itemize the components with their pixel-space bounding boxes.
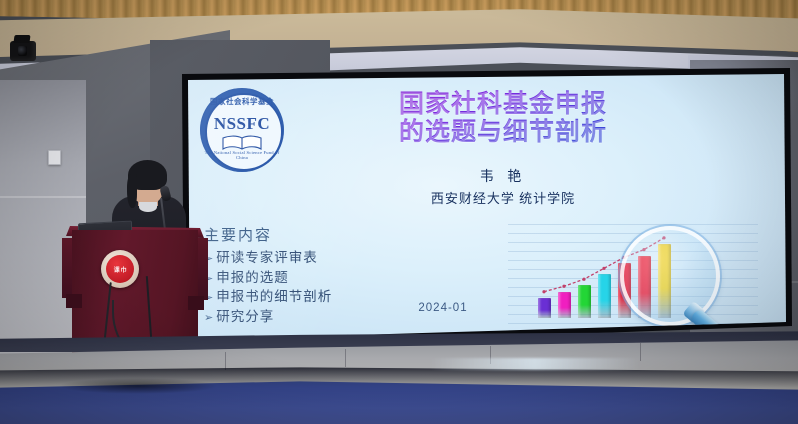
slide-date: 2024-01 [368,302,518,314]
chart-bar [578,285,591,318]
bar-chart-graphic [508,224,758,336]
nssfc-logo-english-text: The National Social Science Fund of Chin… [200,150,284,160]
outline-item-label: 申报的选题 [216,270,289,285]
lower-wall-seam [640,343,641,361]
nssfc-logo: 国家社会科学基金 NSSFC The National Social Scien… [200,88,284,172]
camera-lens-icon [18,46,27,56]
outline-item: ➢申报的选题 [204,268,454,288]
presenter-collar [139,202,157,212]
bullet-arrow-icon: ➢ [204,311,214,327]
magnifier-lens-icon [620,226,720,326]
wall-panel-seam [0,196,86,198]
chart-bar [558,292,571,318]
outline-item-label: 申报书的细节剖析 [216,289,332,304]
lower-wall-seam [345,349,346,367]
lower-wall-seam [225,352,226,370]
slide-title: 国家社科基金申报 的选题与细节剖析 [338,90,668,146]
presenter-affiliation: 西安财经大学 统计学院 [318,188,688,207]
nssfc-logo-chinese-text: 国家社会科学基金 [200,96,284,107]
projection-screen[interactable]: 国家社会科学基金 NSSFC The National Social Scien… [188,74,786,340]
podium-emblem-label: 课 巾 [114,265,127,274]
outline-item-label: 研究分享 [216,309,274,324]
chart-bar [598,274,611,318]
podium-emblem: 课 巾 [106,255,134,283]
presenter-hair-side [127,174,137,208]
outline-item-label: 研读专家评审表 [216,250,318,265]
floor-light-reflection [430,358,640,370]
podium-right-step [188,296,204,310]
presentation-room-photo: 国家社会科学基金 NSSFC The National Social Scien… [0,0,798,424]
wall-switch-plate-left[interactable] [48,150,61,165]
presenter-name: 韦 艳 [338,166,668,186]
podium-left-step [66,294,82,308]
outline-heading: 主要内容 [204,224,454,245]
nssfc-logo-abbreviation: NSSFC [200,114,284,134]
slide-title-line1: 国家社科基金申报 [338,90,668,118]
podium-floor-shadow [58,378,218,394]
slide-title-line2: 的选题与细节剖析 [338,118,668,146]
chart-bar [538,298,551,318]
outline-item: ➢研读专家评审表 [204,248,454,268]
open-book-icon [222,135,262,151]
